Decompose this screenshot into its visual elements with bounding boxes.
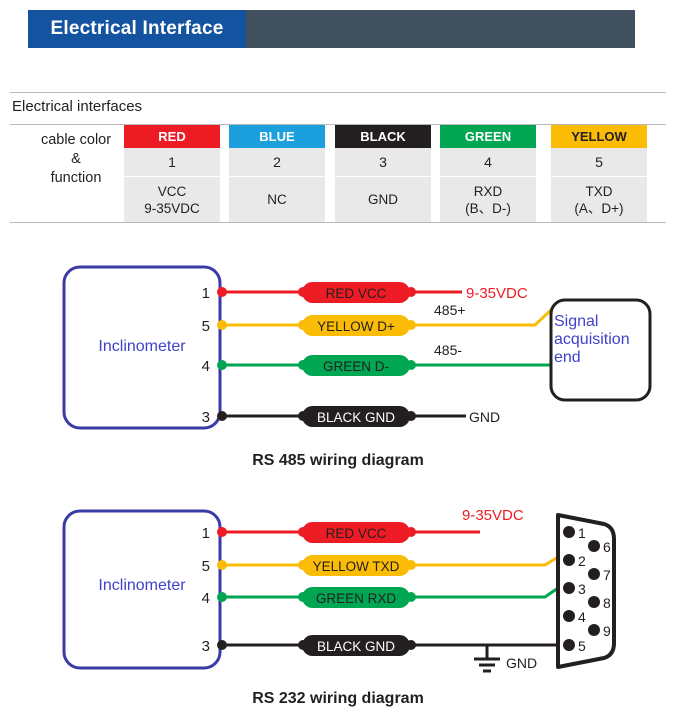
db9-pin-label-1: 1: [578, 525, 586, 541]
function-cell-yellow: TXD (A、D+): [551, 177, 647, 222]
table-row-label-line-2: &: [24, 150, 128, 169]
color-header-black: BLACK: [335, 125, 431, 148]
header-title-block: Electrical Interface: [28, 10, 246, 48]
supply-label-232: 9-35VDC: [462, 507, 524, 524]
signal-label-485-plus: 485+: [434, 302, 466, 318]
function-cell-black: GND: [335, 177, 431, 222]
db9-pin-label-6: 6: [603, 539, 611, 555]
page-title: Electrical Interface: [51, 18, 224, 40]
inclinometer-label-485: Inclinometer: [98, 338, 186, 355]
ground-symbol-icon: [474, 645, 500, 671]
color-header-red: RED: [124, 125, 220, 148]
node-dot-yellow-left-232: [217, 560, 227, 570]
function-cell-blue: NC: [229, 177, 325, 222]
color-header-green: GREEN: [440, 125, 536, 148]
function-cell-green: RXD (B、D-): [440, 177, 536, 222]
pill-label-black-232: BLACK GND: [317, 639, 395, 654]
node-dot-green-right-232: [406, 592, 416, 602]
pin-label-5-232: 5: [202, 558, 210, 575]
function-line-2-green: (B、D-): [465, 200, 511, 217]
pin-number-green: 4: [440, 148, 536, 177]
pill-label-black-485: BLACK GND: [317, 410, 395, 425]
db9-pin-dot-8: [588, 596, 600, 608]
wire-yellow-right-485: [410, 310, 551, 325]
wire-yellow-right-232: [410, 557, 558, 565]
signal-label-485-minus: 485-: [434, 342, 462, 358]
table-column-black: BLACK 3 GND: [335, 125, 431, 222]
pill-label-green-485: GREEN D-: [323, 359, 389, 374]
node-dot-red-right-485: [406, 287, 416, 297]
node-dot-black-left-485: [217, 411, 227, 421]
node-dot-red-left-485: [217, 287, 227, 297]
node-dot-black-right-485: [406, 411, 416, 421]
pill-label-yellow-485: YELLOW D+: [317, 319, 395, 334]
table-column-red: RED 1 VCC 9-35VDC: [124, 125, 220, 222]
function-line-2-red: 9-35VDC: [144, 200, 200, 217]
db9-pin-dot-1: [563, 526, 575, 538]
pin-number-yellow: 5: [551, 148, 647, 177]
db9-pin-label-9: 9: [603, 623, 611, 639]
ground-label-485: GND: [469, 409, 500, 425]
section-rule-bottom: [10, 222, 666, 223]
pin-label-3-485: 3: [202, 409, 210, 426]
color-header-blue: BLUE: [229, 125, 325, 148]
pill-label-yellow-232: YELLOW TXD: [313, 559, 400, 574]
node-dot-red-left-232: [217, 527, 227, 537]
db9-pin-dot-2: [563, 554, 575, 566]
node-dot-green-left-485: [217, 360, 227, 370]
db9-pin-label-4: 4: [578, 609, 586, 625]
pin-label-5-485: 5: [202, 318, 210, 335]
pill-label-red-485: RED VCC: [326, 286, 387, 301]
db9-pin-dot-6: [588, 540, 600, 552]
rs232-wiring-diagram: Inclinometer 1 RED VCC 9-35VDC 5 YELLOW …: [0, 495, 676, 690]
function-cell-red: VCC 9-35VDC: [124, 177, 220, 222]
db9-pin-dot-3: [563, 582, 575, 594]
table-row-label-line-1: cable color: [24, 131, 128, 150]
inclinometer-label-232: Inclinometer: [98, 577, 186, 594]
signal-acquisition-label-line-3: end: [554, 349, 581, 366]
pin-number-black: 3: [335, 148, 431, 177]
db9-pin-dot-7: [588, 568, 600, 580]
node-dot-red-right-232: [406, 527, 416, 537]
function-line-1-blue: NC: [267, 191, 287, 208]
rs485-wiring-diagram: Inclinometer 1 RED VCC 9-35VDC 5 YELLOW …: [0, 250, 676, 450]
pin-label-1-232: 1: [202, 525, 210, 542]
cable-color-function-table: cable color & function RED 1 VCC 9-35VDC…: [10, 125, 666, 222]
db9-pin-label-7: 7: [603, 567, 611, 583]
db9-pin-label-8: 8: [603, 595, 611, 611]
rs232-caption: RS 232 wiring diagram: [0, 690, 676, 708]
function-line-1-red: VCC: [158, 183, 187, 200]
db9-pin-label-5: 5: [578, 638, 586, 654]
table-row-label-line-3: function: [24, 169, 128, 188]
pin-number-blue: 2: [229, 148, 325, 177]
db9-pin-label-3: 3: [578, 581, 586, 597]
signal-acquisition-label-line-1: Signal: [554, 313, 598, 330]
function-line-1-yellow: TXD: [586, 183, 613, 200]
pin-label-3-232: 3: [202, 638, 210, 655]
table-column-blue: BLUE 2 NC: [229, 125, 325, 222]
pill-label-green-232: GREEN RXD: [316, 591, 397, 606]
node-dot-black-right-232: [406, 640, 416, 650]
db9-pin-label-2: 2: [578, 553, 586, 569]
wire-green-right-232: [410, 588, 558, 597]
pin-number-red: 1: [124, 148, 220, 177]
pin-label-4-485: 4: [202, 358, 210, 375]
section-rule-top: [10, 92, 666, 93]
function-line-1-green: RXD: [474, 183, 503, 200]
table-row-label: cable color & function: [24, 131, 128, 188]
node-dot-yellow-left-485: [217, 320, 227, 330]
db9-pin-dot-4: [563, 610, 575, 622]
pill-label-red-232: RED VCC: [326, 526, 387, 541]
node-dot-green-left-232: [217, 592, 227, 602]
supply-label-485: 9-35VDC: [466, 285, 528, 302]
node-dot-yellow-right-232: [406, 560, 416, 570]
ground-label-232: GND: [506, 655, 537, 671]
node-dot-green-right-485: [406, 360, 416, 370]
function-line-1-black: GND: [368, 191, 398, 208]
function-line-2-yellow: (A、D+): [574, 200, 623, 217]
rs485-caption: RS 485 wiring diagram: [0, 452, 676, 470]
section-heading: Electrical interfaces: [12, 98, 142, 115]
table-column-green: GREEN 4 RXD (B、D-): [440, 125, 536, 222]
color-header-yellow: YELLOW: [551, 125, 647, 148]
db9-pin-dot-5: [563, 639, 575, 651]
pin-label-4-232: 4: [202, 590, 210, 607]
table-column-yellow: YELLOW 5 TXD (A、D+): [551, 125, 647, 222]
node-dot-black-left-232: [217, 640, 227, 650]
signal-acquisition-label-line-2: acquisition: [554, 331, 630, 348]
db9-pin-dot-9: [588, 624, 600, 636]
pin-label-1-485: 1: [202, 285, 210, 302]
node-dot-yellow-right-485: [406, 320, 416, 330]
